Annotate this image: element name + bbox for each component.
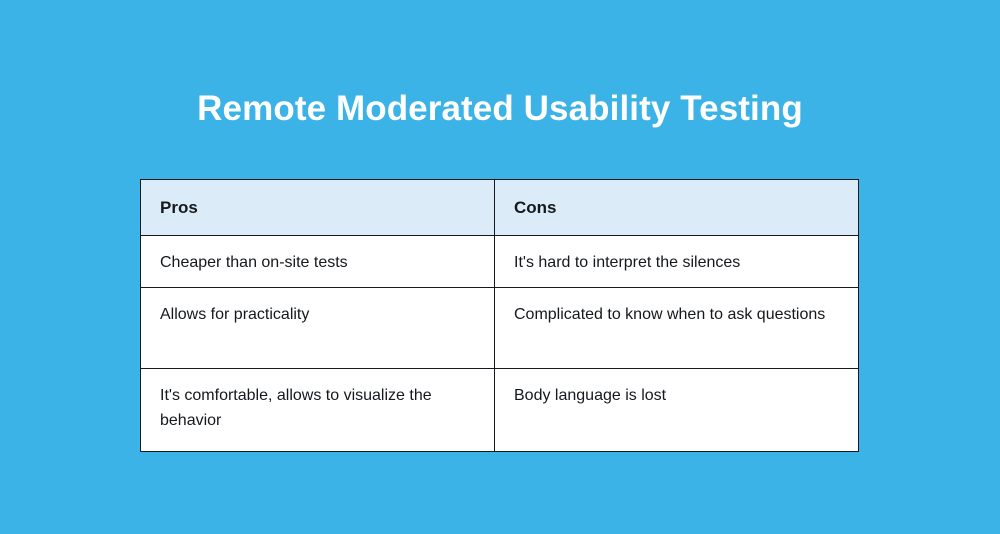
table-header-row: Pros Cons [141, 180, 859, 236]
table-body: Cheaper than on-site tests It's hard to … [141, 236, 859, 452]
table-row: It's comfortable, allows to visualize th… [141, 369, 859, 452]
cell-pros: It's comfortable, allows to visualize th… [141, 369, 495, 452]
cell-cons-text: Body language is lost [495, 369, 858, 408]
page-title: Remote Moderated Usability Testing [0, 86, 1000, 132]
cell-cons-text: Complicated to know when to ask question… [495, 288, 858, 327]
cell-cons-text: It's hard to interpret the silences [495, 236, 858, 275]
cell-cons: Body language is lost [495, 369, 859, 452]
cell-pros-text: Allows for practicality [141, 288, 494, 327]
cell-cons: Complicated to know when to ask question… [495, 288, 859, 369]
column-header-cons: Cons [495, 180, 859, 236]
cell-cons: It's hard to interpret the silences [495, 236, 859, 288]
cell-pros-text: It's comfortable, allows to visualize th… [141, 369, 494, 433]
pros-cons-table: Pros Cons Cheaper than on-site tests It'… [140, 179, 859, 452]
cell-pros-text: Cheaper than on-site tests [141, 236, 494, 275]
table-header: Pros Cons [141, 180, 859, 236]
cell-pros: Allows for practicality [141, 288, 495, 369]
table-row: Cheaper than on-site tests It's hard to … [141, 236, 859, 288]
column-header-pros-label: Pros [141, 198, 494, 218]
column-header-cons-label: Cons [495, 198, 858, 218]
cell-pros: Cheaper than on-site tests [141, 236, 495, 288]
slide-canvas: Remote Moderated Usability Testing Pros … [0, 0, 1000, 534]
column-header-pros: Pros [141, 180, 495, 236]
table-row: Allows for practicality Complicated to k… [141, 288, 859, 369]
